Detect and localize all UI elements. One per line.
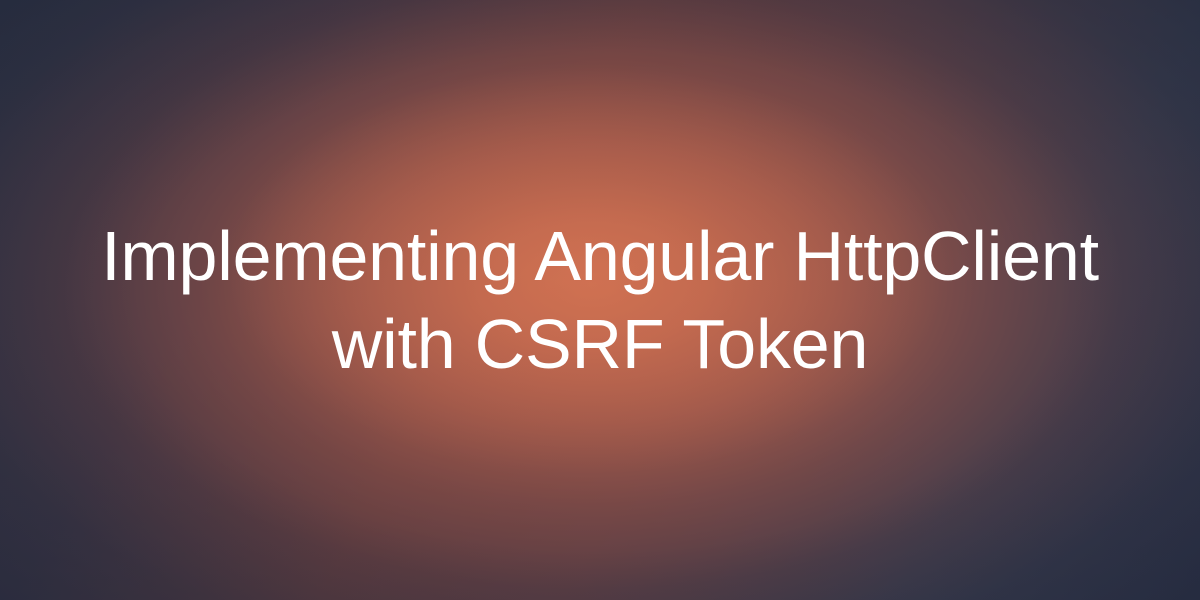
- headline-container: Implementing Angular HttpClient with CSR…: [0, 0, 1200, 600]
- social-card-banner: Implementing Angular HttpClient with CSR…: [0, 0, 1200, 600]
- page-title: Implementing Angular HttpClient with CSR…: [101, 212, 1099, 388]
